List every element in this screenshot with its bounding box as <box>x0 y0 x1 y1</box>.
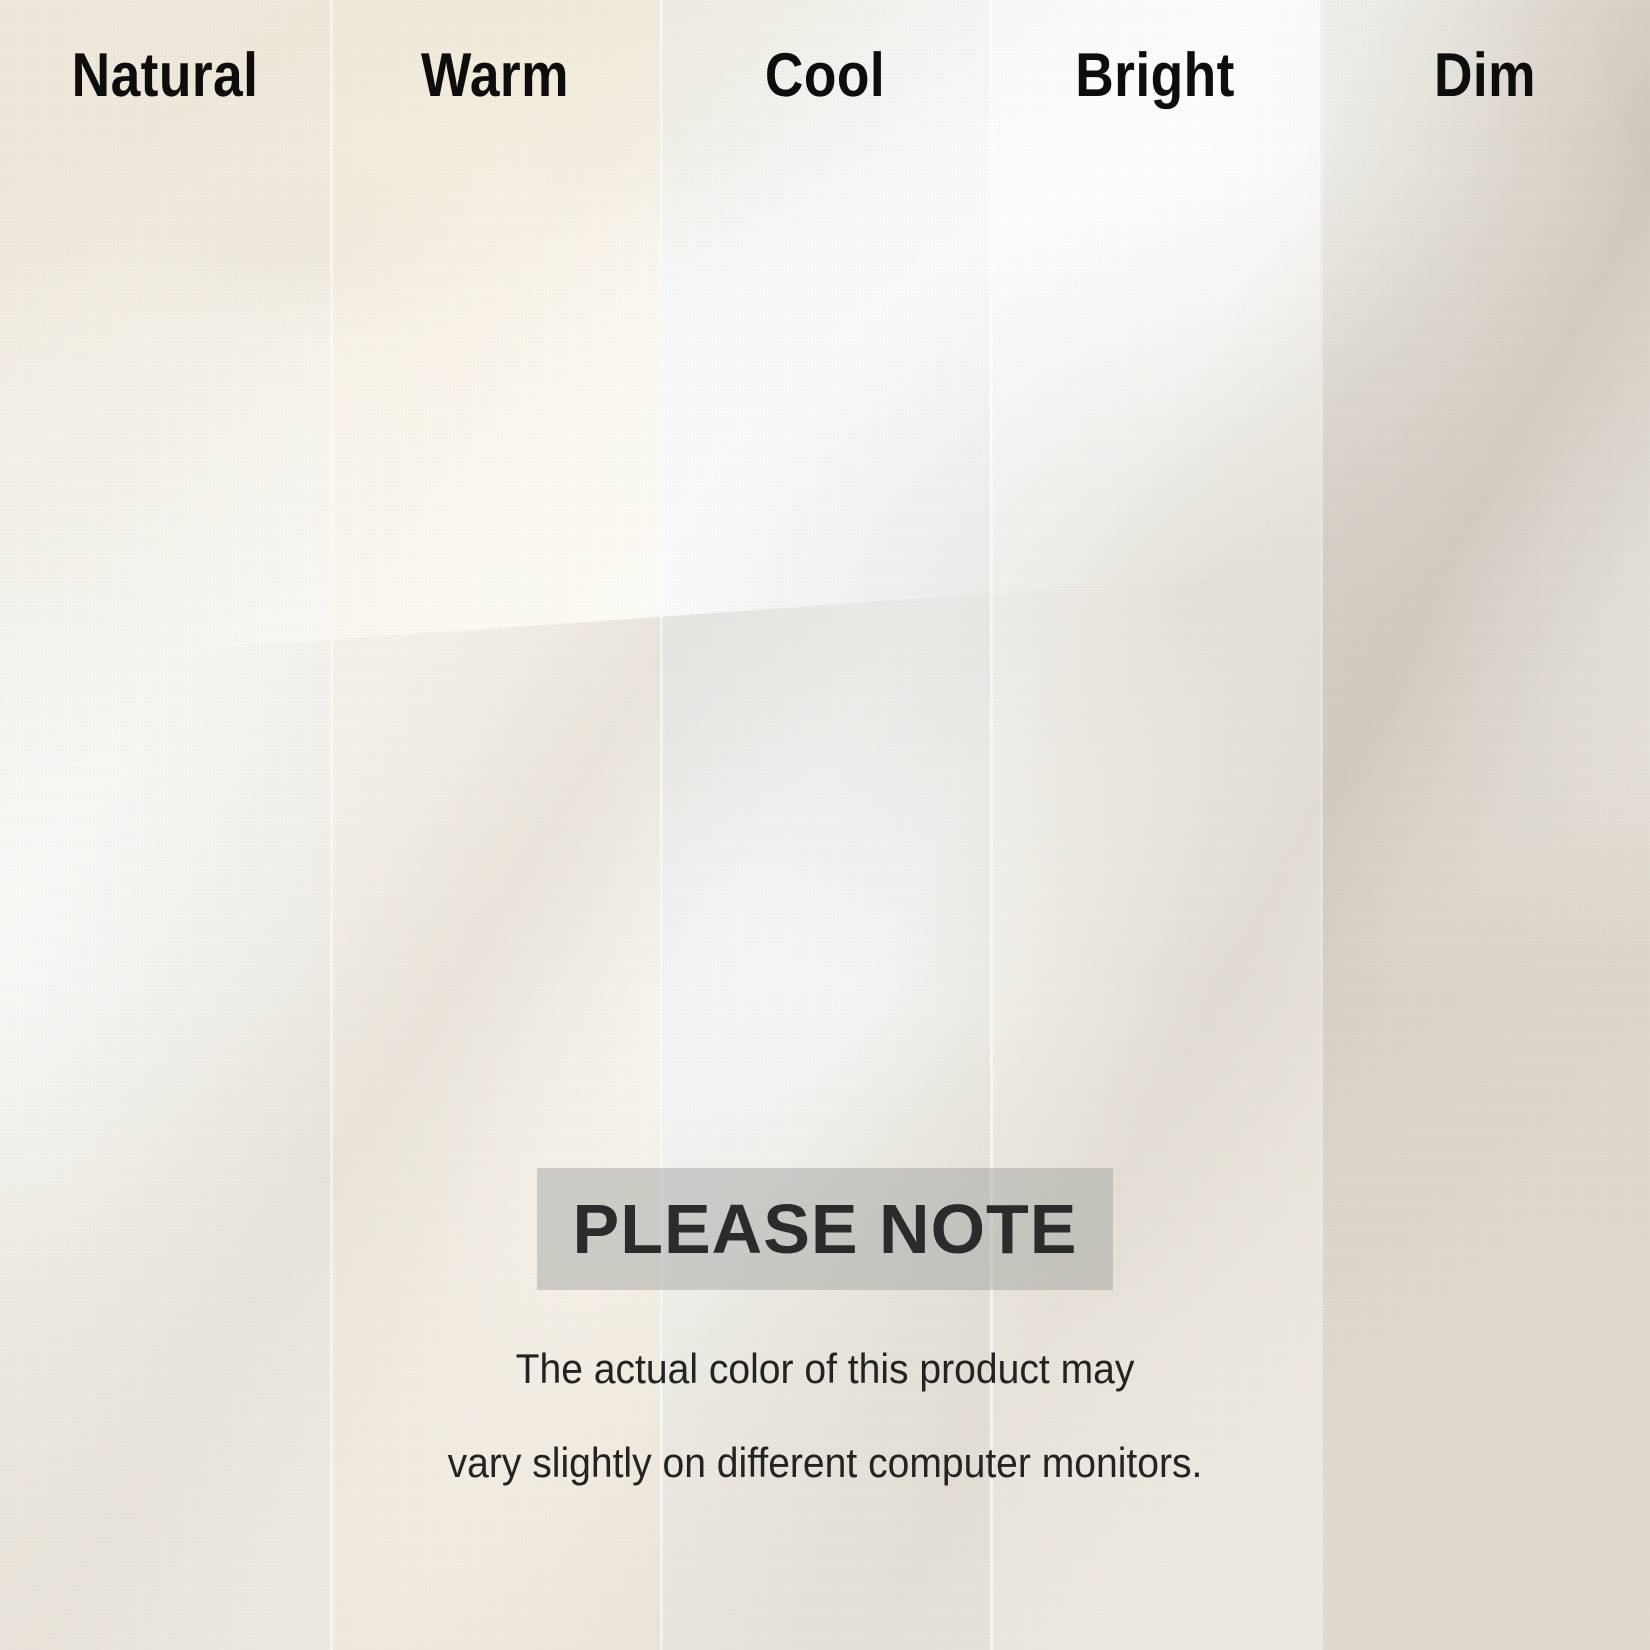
disclaimer-block: PLEASE NOTE The actual color of this pro… <box>0 1168 1650 1484</box>
please-note-label: PLEASE NOTE <box>573 1194 1078 1264</box>
please-note-banner: PLEASE NOTE <box>537 1168 1113 1290</box>
lighting-label-natural: Natural <box>23 45 307 107</box>
product-color-comparison-image: Natural Warm Cool Bright Dim PLEASE NOTE… <box>0 0 1650 1650</box>
lighting-label-dim: Dim <box>1343 45 1627 107</box>
lighting-label-bright: Bright <box>1013 45 1297 107</box>
disclaimer-text: The actual color of this product may var… <box>0 1348 1650 1484</box>
disclaimer-line-1: The actual color of this product may <box>58 1348 1593 1390</box>
lighting-label-warm: Warm <box>353 45 637 107</box>
disclaimer-line-2: vary slightly on different computer moni… <box>58 1442 1593 1484</box>
lighting-label-cool: Cool <box>683 45 967 107</box>
